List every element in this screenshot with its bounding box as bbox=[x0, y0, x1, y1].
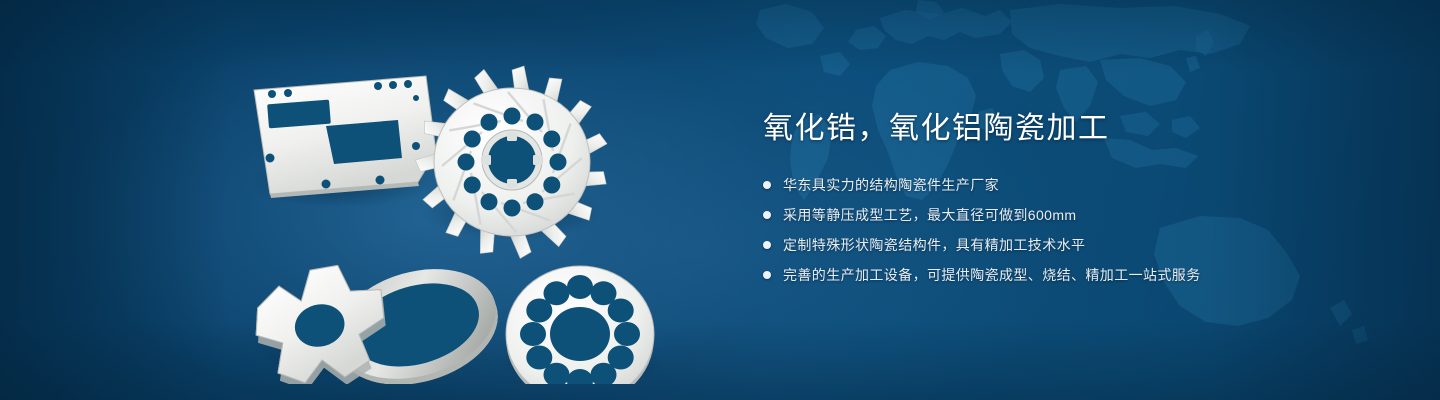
banner-copy: 氧化锆，氧化铝陶瓷加工 华东具实力的结构陶瓷件生产厂家 采用等静压成型工艺，最大… bbox=[763, 108, 1383, 294]
ceramic-hole-ring-shape bbox=[506, 266, 654, 384]
list-item: 完善的生产加工设备，可提供陶瓷成型、烧结、精加工一站式服务 bbox=[763, 264, 1383, 286]
feature-list: 华东具实力的结构陶瓷件生产厂家 采用等静压成型工艺，最大直径可做到600mm 定… bbox=[763, 174, 1383, 286]
list-item-label: 采用等静压成型工艺，最大直径可做到600mm bbox=[783, 204, 1076, 226]
product-photo-group bbox=[230, 34, 710, 384]
list-item: 华东具实力的结构陶瓷件生产厂家 bbox=[763, 174, 1383, 196]
page-title: 氧化锆，氧化铝陶瓷加工 bbox=[763, 108, 1383, 150]
list-item-label: 完善的生产加工设备，可提供陶瓷成型、烧结、精加工一站式服务 bbox=[783, 264, 1201, 286]
list-item-label: 华东具实力的结构陶瓷件生产厂家 bbox=[783, 174, 999, 196]
list-item: 采用等静压成型工艺，最大直径可做到600mm bbox=[763, 204, 1383, 226]
bullet-dot-icon bbox=[763, 181, 771, 189]
hero-banner: 氧化锆，氧化铝陶瓷加工 华东具实力的结构陶瓷件生产厂家 采用等静压成型工艺，最大… bbox=[0, 0, 1440, 400]
bullet-dot-icon bbox=[763, 241, 771, 249]
list-item: 定制特殊形状陶瓷结构件，具有精加工技术水平 bbox=[763, 234, 1383, 256]
bullet-dot-icon bbox=[763, 271, 771, 279]
bullet-dot-icon bbox=[763, 211, 771, 219]
ceramic-plate-shape bbox=[254, 76, 436, 198]
list-item-label: 定制特殊形状陶瓷结构件，具有精加工技术水平 bbox=[783, 234, 1085, 256]
